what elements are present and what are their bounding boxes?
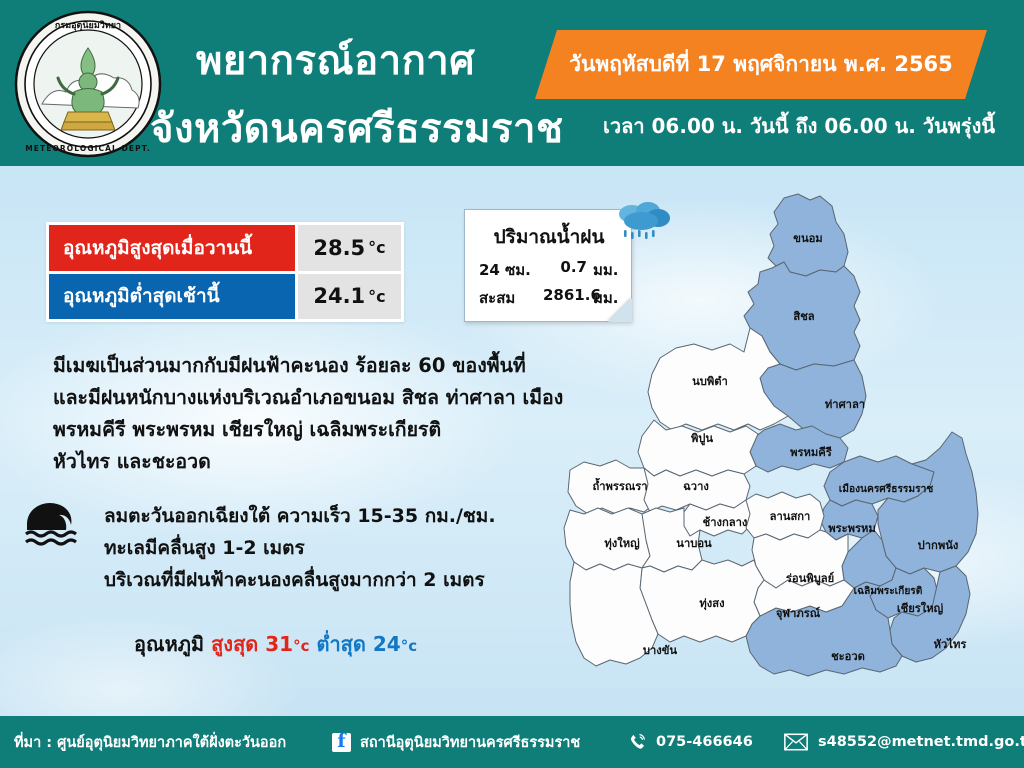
district-label-phromkhiri: พรหมคีรี [790,446,832,459]
temp-summary-min-unit: °c [401,637,417,655]
district-label-nabon: นาบอน [676,537,712,550]
max-temp-unit: °c [368,238,385,257]
max-temp-value: 28.5 °c [295,225,401,271]
svg-text:METEOROLOGICAL DEPT.: METEOROLOGICAL DEPT. [25,144,151,153]
max-temp-number: 28.5 [313,236,365,260]
footer-phone[interactable]: 075-466646 [627,716,753,768]
table-row: อุณหภูมิสูงสุดเมื่อวานนี้ 28.5 °c [49,225,401,271]
forecast-line: พรหมคีรี พระพรหม เชียรใหญ่ เฉลิมพระเกียร… [53,414,623,446]
phone-icon [627,732,647,752]
temp-summary-max-label: สูงสุด [211,632,258,656]
district-label-thungyai: ทุ่งใหญ่ [604,536,640,551]
footer-source-text: ที่มา : ศูนย์อุตุนิยมวิทยาภาคใต้ฝั่งตะวั… [14,731,286,754]
district-shape-pakphanang[interactable] [878,432,978,574]
district-label-chianyai: เชียรใหญ่ [897,601,944,615]
district-label-khanom: ขนอม [793,232,822,245]
sea-line: บริเวณที่มีฝนฟ้าคะนองคลื่นสูงมากกว่า 2 เ… [104,564,584,596]
page-title-line2: จังหวัดนครศรีธรรมราช [150,96,564,160]
temp-summary-max-unit: °c [293,637,309,655]
district-label-phipun: พิปูน [691,432,713,446]
time-range-label: เวลา 06.00 น. วันนี้ ถึง 06.00 น. วันพรุ… [603,110,995,142]
footer-email[interactable]: s48552@metnet.tmd.go.th [784,716,1024,768]
forecast-text-block: มีเมฆเป็นส่วนมากกับมีฝนฟ้าคะนอง ร้อยละ 6… [53,350,623,478]
temperature-summary: อุณหภูมิ สูงสุด 31°c ต่ำสุด 24°c [134,628,417,660]
district-label-sichon: สิชล [793,310,815,323]
sea-line: ลมตะวันออกเฉียงใต้ ความเร็ว 15-35 กม./ชม… [104,500,584,532]
min-temp-number: 24.1 [313,284,365,308]
min-temp-unit: °c [368,287,385,306]
footer-facebook[interactable]: สถานีอุตุนิยมวิทยานครศรีธรรมราช [332,716,580,768]
district-label-chawang: ฉวาง [683,480,709,493]
tmd-logo: กรมอุตุนิยมวิทยา METEOROLOGICAL DEPT. [12,8,164,160]
forecast-line: หัวไทร และชะอวด [53,446,623,478]
footer-source: ที่มา : ศูนย์อุตุนิยมวิทยาภาคใต้ฝั่งตะวั… [14,716,286,768]
district-label-lansaka: ลานสกา [770,510,811,523]
district-label-mueang: เมืองนครศรีธรรมราช [839,482,934,495]
footer-facebook-text[interactable]: สถานีอุตุนิยมวิทยานครศรีธรรมราช [360,731,580,754]
temp-summary-min-value: 24 [373,632,401,656]
forecast-line: มีเมฆเป็นส่วนมากกับมีฝนฟ้าคะนอง ร้อยละ 6… [53,350,623,382]
temp-summary-max-value: 31 [265,632,293,656]
district-label-huasai: หัวไทร [934,637,967,651]
district-map[interactable]: ขนอม สิชล นบพิตำ ท่าศาลา พิปูน พรหมคีรี … [548,180,1024,715]
weather-infographic: กรมอุตุนิยมวิทยา METEOROLOGICAL DEPT. พย… [0,0,1024,768]
sea-line: ทะเลมีคลื่นสูง 1-2 เมตร [104,532,584,564]
table-row: อุณหภูมิต่ำสุดเช้านี้ 24.1 °c [49,274,401,320]
district-label-chulabhorn: จุฬาภรณ์ [776,606,821,621]
rainfall-24h-period: 24 ซม. [479,258,531,282]
temp-summary-min-label: ต่ำสุด [316,632,365,656]
date-banner: วันพฤหัสบดีที่ 17 พฤศจิกายน พ.ศ. 2565 [535,30,987,99]
district-label-thamphannara: ถ้ำพรรณรา [592,477,647,493]
max-temp-label: อุณหภูมิสูงสุดเมื่อวานนี้ [49,225,295,271]
temperature-table: อุณหภูมิสูงสุดเมื่อวานนี้ 28.5 °c อุณหภู… [46,222,404,322]
date-banner-text: วันพฤหัสบดีที่ 17 พฤศจิกายน พ.ศ. 2565 [535,30,987,99]
facebook-icon[interactable] [332,733,351,752]
header-bar: กรมอุตุนิยมวิทยา METEOROLOGICAL DEPT. พย… [0,0,1024,166]
forecast-line: และมีฝนหนักบางแห่งบริเวณอำเภอขนอม สิชล ท… [53,382,623,414]
district-label-ronphibun: ร่อนพิบูลย์ [786,571,834,586]
rainfall-accum-period: สะสม [479,286,515,310]
district-label-bangkhan: บางขัน [643,644,677,657]
district-label-phraphrom: พระพรหม [828,522,876,535]
footer-phone-text[interactable]: 075-466646 [656,734,753,750]
district-label-chaat: ชะอวด [831,650,865,663]
district-label-thungsong: ทุ่งสง [699,597,724,611]
envelope-icon [784,733,808,751]
footer-bar: ที่มา : ศูนย์อุตุนิยมวิทยาภาคใต้ฝั่งตะวั… [0,716,1024,768]
footer-email-text[interactable]: s48552@metnet.tmd.go.th [818,734,1024,750]
svg-text:กรมอุตุนิยมวิทยา: กรมอุตุนิยมวิทยา [55,20,121,31]
min-temp-label: อุณหภูมิต่ำสุดเช้านี้ [49,274,295,320]
district-label-thasala: ท่าศาลา [825,398,865,411]
district-label-nopphitam: นบพิตำ [692,375,728,388]
sea-conditions-block: ลมตะวันออกเฉียงใต้ ความเร็ว 15-35 กม./ชม… [104,500,584,596]
min-temp-value: 24.1 °c [295,274,401,320]
page-title-line1: พยากรณ์อากาศ [196,28,475,92]
district-label-pakphanang: ปากพนัง [918,539,959,552]
district-label-changklang: ช้างกลาง [703,516,748,529]
district-label-chaloemphrakiat: เฉลิมพระเกียรติ [854,585,923,597]
wave-icon [24,498,86,548]
district-map-svg[interactable]: ขนอม สิชล นบพิตำ ท่าศาลา พิปูน พรหมคีรี … [548,180,1024,715]
temp-summary-prefix: อุณหภูมิ [134,632,204,656]
